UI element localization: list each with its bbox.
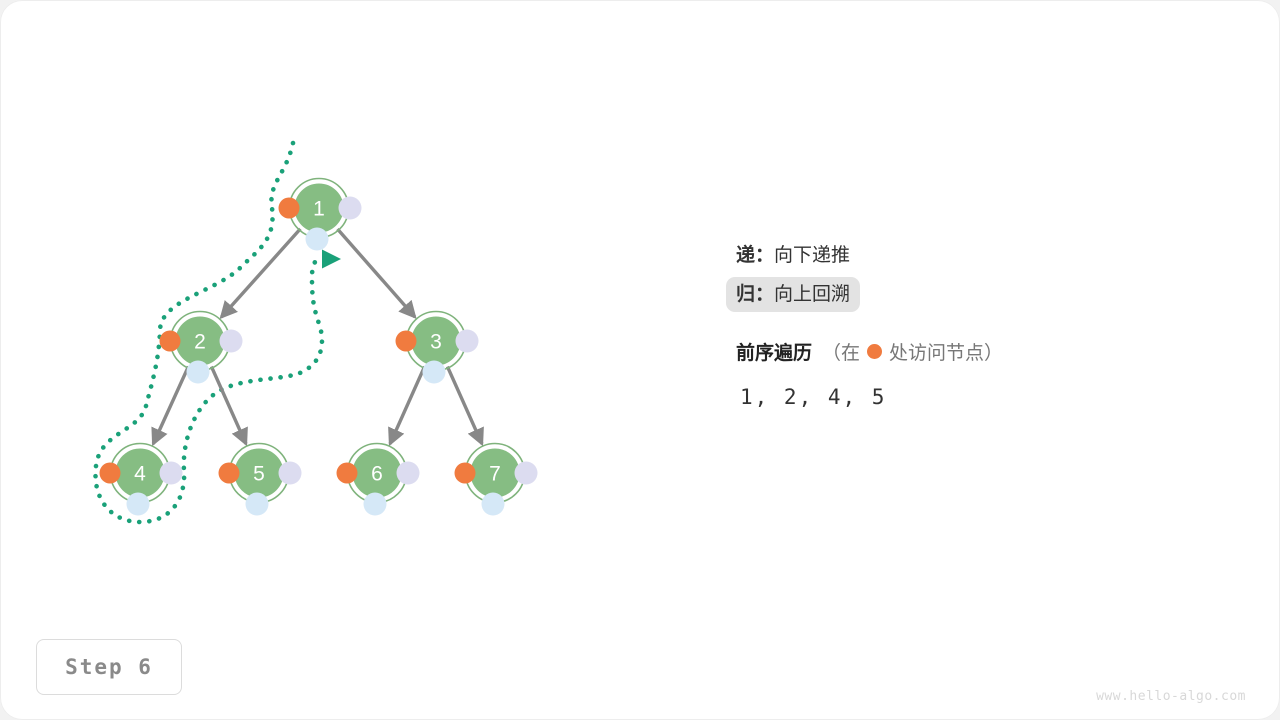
node-label: 6: [371, 463, 383, 486]
traversal-name: 前序遍历: [736, 338, 812, 365]
node-right-dot: [339, 197, 362, 220]
node-bottom-dot: [187, 361, 210, 384]
node-right-dot: [397, 462, 420, 485]
node-label: 5: [253, 463, 265, 486]
recursion-arrowhead: [322, 250, 341, 269]
legend-row-recurse: 递：向下递推: [726, 238, 1146, 273]
legend-row-backtrack: 归：向上回溯: [726, 277, 1146, 312]
tree-node-7[interactable]: 7: [455, 444, 538, 516]
tree-node-6[interactable]: 6: [337, 444, 420, 516]
legend-recurse-text: 递：向下递推: [726, 238, 860, 273]
node-bottom-dot: [364, 493, 387, 516]
traversal-order-block: 前序遍历 （在 处访问节点） 1, 2, 4, 5: [726, 338, 1146, 409]
node-label: 3: [430, 331, 442, 354]
watermark: www.hello-algo.com: [1096, 689, 1246, 704]
node-visit-dot: [160, 331, 181, 352]
tree-edge: [447, 367, 482, 444]
tree-node-2[interactable]: 2: [160, 312, 243, 384]
tree-node-3[interactable]: 3: [396, 312, 479, 384]
tree-edge: [153, 366, 188, 443]
node-right-dot: [220, 330, 243, 353]
legend-backtrack-prefix: 归：: [736, 284, 774, 305]
node-right-dot: [515, 462, 538, 485]
tree-node-5[interactable]: 5: [219, 444, 302, 516]
tree-edge: [337, 229, 414, 317]
node-label: 7: [489, 463, 501, 486]
node-right-dot: [456, 330, 479, 353]
node-bottom-dot: [423, 361, 446, 384]
visit-dot-icon: [867, 344, 882, 359]
tree-edge: [390, 367, 425, 444]
tree-edge: [211, 367, 246, 444]
traversal-order-title: 前序遍历 （在 处访问节点）: [726, 338, 1146, 365]
node-visit-dot: [100, 463, 121, 484]
step-badge: Step 6: [36, 639, 182, 695]
node-visit-dot: [455, 463, 476, 484]
tree-nodes: 1234567: [100, 179, 538, 516]
legend-recurse-prefix: 递：: [736, 245, 774, 266]
traversal-paren-open: （在: [822, 338, 860, 365]
diagram-canvas: 1234567 递：向下递推 归：向上回溯 前序遍历 （在 处访问节点） 1, …: [0, 0, 1280, 720]
traversal-paren-close: 处访问节点）: [889, 338, 1003, 365]
node-right-dot: [160, 462, 183, 485]
node-label: 2: [194, 331, 206, 354]
node-visit-dot: [279, 198, 300, 219]
node-right-dot: [279, 462, 302, 485]
tree-node-4[interactable]: 4: [100, 444, 183, 516]
node-visit-dot: [337, 463, 358, 484]
node-bottom-dot: [306, 228, 329, 251]
traversal-order-values: 1, 2, 4, 5: [726, 385, 1146, 409]
node-visit-dot: [219, 463, 240, 484]
legend-panel: 递：向下递推 归：向上回溯 前序遍历 （在 处访问节点） 1, 2, 4, 5: [726, 238, 1146, 409]
node-bottom-dot: [246, 493, 269, 516]
node-label: 4: [134, 463, 146, 486]
node-label: 1: [313, 198, 325, 221]
legend-backtrack-text: 归：向上回溯: [726, 277, 860, 312]
legend-recurse-body: 向下递推: [774, 245, 850, 266]
node-bottom-dot: [127, 493, 150, 516]
node-visit-dot: [396, 331, 417, 352]
legend-backtrack-body: 向上回溯: [774, 284, 850, 305]
node-bottom-dot: [482, 493, 505, 516]
